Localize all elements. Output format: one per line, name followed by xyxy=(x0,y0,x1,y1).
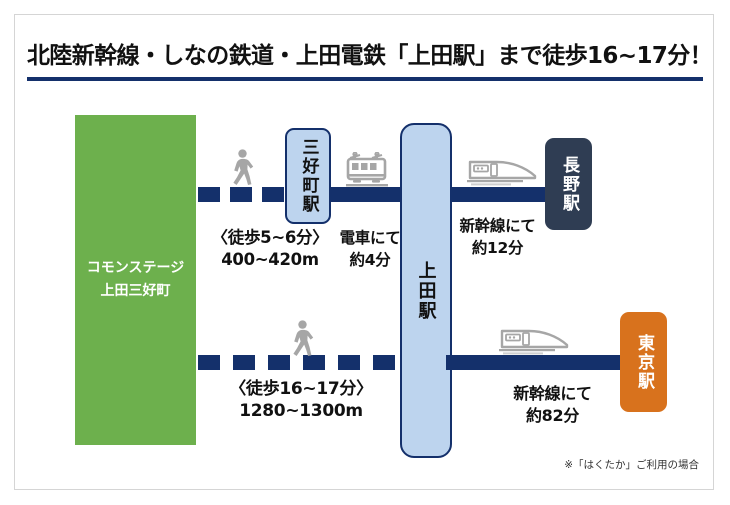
property-name-label: コモンステージ 上田三好町 xyxy=(87,257,184,303)
walk-route-dash-bot-1 xyxy=(198,355,220,370)
local-train-icon xyxy=(344,152,390,192)
station-box-miyoshicho[interactable]: 三好町駅 xyxy=(285,128,331,224)
route-caption-shinkansen-to-tokyo: 新幹線にて 約82分 xyxy=(480,383,625,427)
station-label-miyoshicho: 三好町駅 xyxy=(298,138,319,214)
walk-route-dash-top-3 xyxy=(262,187,284,202)
station-box-nagano[interactable]: 長野駅 xyxy=(545,138,592,230)
footnote-text: ※「はくたか」ご利用の場合 xyxy=(564,457,699,472)
station-label-ueda: 上田駅 xyxy=(413,261,440,321)
shinkansen-bullet-train-icon xyxy=(499,327,569,359)
station-box-ueda[interactable]: 上田駅 xyxy=(400,123,452,458)
pedestrian-walking-icon xyxy=(228,149,254,189)
walk-route-dash-top-2 xyxy=(230,187,252,202)
diagram-frame: 北陸新幹線・しなの鉄道・上田電鉄「上田駅」まで徒歩16~17分！ コモンステージ… xyxy=(14,14,714,490)
walk-route-dash-bot-2 xyxy=(233,355,255,370)
walk-route-dash-top-1 xyxy=(198,187,220,202)
walk-route-dash-bot-3 xyxy=(268,355,290,370)
route-caption-shinkansen-to-nagano: 新幹線にて 約12分 xyxy=(445,215,550,259)
access-route-diagram: コモンステージ 上田三好町 xyxy=(15,15,715,491)
route-caption-train-to-ueda: 電車にて 約4分 xyxy=(335,227,405,271)
walk-route-dash-bot-6 xyxy=(373,355,395,370)
station-label-tokyo: 東京駅 xyxy=(633,334,654,391)
property-block: コモンステージ 上田三好町 xyxy=(75,115,196,445)
station-box-tokyo[interactable]: 東京駅 xyxy=(620,312,667,412)
walk-route-dash-bot-5 xyxy=(338,355,360,370)
station-label-nagano: 長野駅 xyxy=(558,156,579,213)
route-caption-walk-to-miyoshicho: 〈徒歩5~6分〉 400~420m xyxy=(200,227,340,271)
pedestrian-walking-icon xyxy=(288,320,314,360)
shinkansen-bullet-train-icon xyxy=(467,158,537,190)
route-caption-walk-to-ueda: 〈徒歩16~17分〉 1280~1300m xyxy=(201,378,401,422)
